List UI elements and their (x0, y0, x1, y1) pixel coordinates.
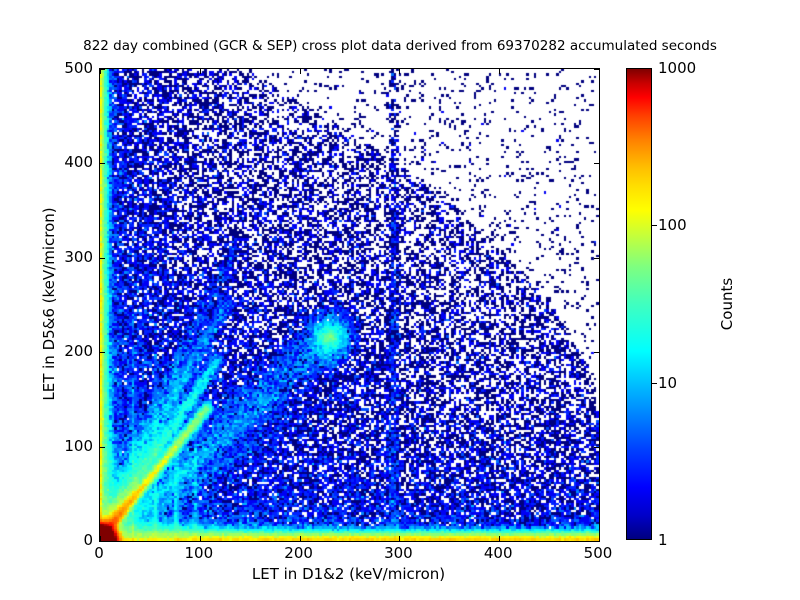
y-tick-mark-400 (594, 163, 599, 164)
x-tick-label-400: 400 (484, 544, 513, 562)
y-tick-label-500: 500 (64, 59, 93, 77)
y-tick-mark-0 (100, 541, 105, 542)
y-tick-label-400: 400 (64, 153, 93, 171)
y-tick-mark-300 (100, 258, 105, 259)
y-axis-label: LET in D5&6 (keV/micron) (40, 207, 58, 400)
x-tick-mark-500 (599, 69, 600, 74)
x-tick-mark-300 (399, 69, 400, 74)
x-tick-mark-500 (599, 536, 600, 541)
scatter-heatmap-canvas (100, 69, 599, 541)
y-tick-label-200: 200 (64, 342, 93, 360)
y-tick-mark-400 (100, 163, 105, 164)
colorbar-tick-label-1: 1 (658, 531, 668, 549)
x-tick-mark-100 (200, 69, 201, 74)
x-tick-mark-300 (399, 536, 400, 541)
x-tick-label-100: 100 (184, 544, 213, 562)
colorbar[interactable] (626, 68, 652, 540)
y-tick-label-100: 100 (64, 437, 93, 455)
x-tick-mark-400 (499, 69, 500, 74)
x-tick-label-300: 300 (384, 544, 413, 562)
x-tick-label-0: 0 (94, 544, 104, 562)
x-tick-mark-200 (300, 69, 301, 74)
y-tick-mark-300 (594, 258, 599, 259)
x-tick-mark-400 (499, 536, 500, 541)
y-tick-mark-500 (100, 69, 105, 70)
colorbar-tick-label-100: 100 (658, 216, 687, 234)
colorbar-label: Counts (718, 278, 736, 330)
y-tick-mark-500 (594, 69, 599, 70)
colorbar-tick-mark-10 (652, 383, 657, 384)
y-tick-label-300: 300 (64, 248, 93, 266)
chart-title-line-1: 822 day combined (GCR & SEP) cross plot … (0, 38, 800, 55)
colorbar-tick-label-1000: 1000 (658, 59, 696, 77)
x-axis-label: LET in D1&2 (keV/micron) (99, 565, 598, 583)
y-tick-mark-100 (100, 447, 105, 448)
y-tick-mark-200 (100, 352, 105, 353)
colorbar-gradient (626, 68, 652, 540)
x-tick-mark-200 (300, 536, 301, 541)
colorbar-tick-mark-100 (652, 225, 657, 226)
plot-area[interactable] (99, 68, 600, 542)
y-tick-mark-0 (594, 541, 599, 542)
colorbar-tick-label-10: 10 (658, 374, 677, 392)
y-tick-label-0: 0 (83, 531, 93, 549)
x-tick-mark-100 (200, 536, 201, 541)
figure: 822 day combined (GCR & SEP) cross plot … (0, 0, 800, 600)
x-tick-label-500: 500 (584, 544, 613, 562)
x-tick-label-200: 200 (284, 544, 313, 562)
y-tick-mark-100 (594, 447, 599, 448)
y-tick-mark-200 (594, 352, 599, 353)
